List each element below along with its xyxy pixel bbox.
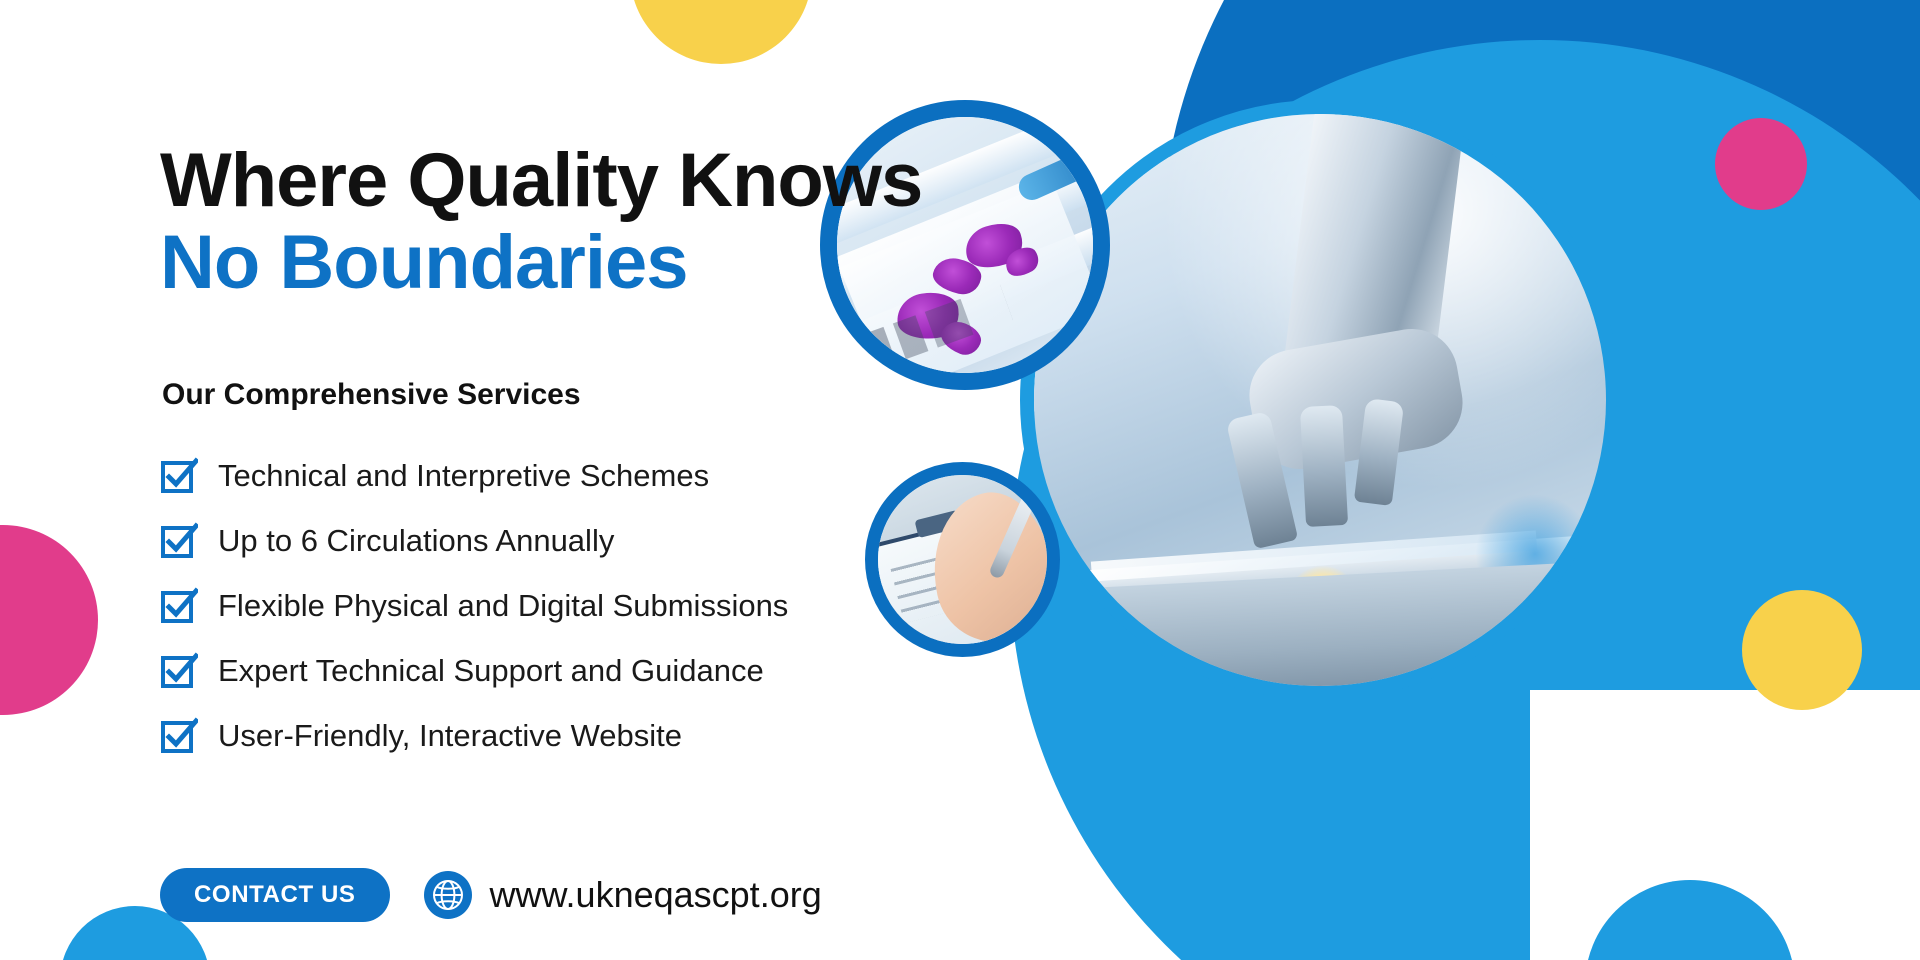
list-item: Flexible Physical and Digital Submission… [160,573,788,638]
list-item-label: Flexible Physical and Digital Submission… [218,588,788,624]
list-item: User-Friendly, Interactive Website [160,703,788,768]
list-item: Up to 6 Circulations Annually [160,508,788,573]
list-item-label: Up to 6 Circulations Annually [218,523,614,559]
checkbox-checked-icon [160,652,198,690]
microscope-objective-2 [1300,405,1348,527]
content-column: Where Quality Knows No Boundaries Our Co… [0,0,900,960]
promo-banner: Where Quality Knows No Boundaries Our Co… [0,0,1920,960]
microscope-photo-backdrop [1034,114,1606,686]
website-url[interactable]: www.ukneqascpt.org [490,874,822,916]
page-title: Where Quality Knows No Boundaries [160,140,922,304]
globe-icon [424,871,472,919]
list-item-label: Expert Technical Support and Guidance [218,653,764,689]
checkbox-checked-icon [160,587,198,625]
checkbox-checked-icon [160,717,198,755]
headline-line-2: No Boundaries [160,222,922,304]
checkbox-checked-icon [160,522,198,560]
list-item-label: User-Friendly, Interactive Website [218,718,682,754]
contact-us-button[interactable]: CONTACT US [160,868,390,922]
decor-circle-yellow-right [1742,590,1862,710]
list-item: Expert Technical Support and Guidance [160,638,788,703]
list-item: Technical and Interpretive Schemes [160,443,788,508]
decor-circle-pink-right [1715,118,1807,210]
microscope-photo [1020,100,1620,700]
list-item-label: Technical and Interpretive Schemes [218,458,709,494]
contact-row: CONTACT US www.ukneqascpt.org [160,868,822,922]
services-list: Technical and Interpretive Schemes Up to… [160,443,788,768]
section-subheading: Our Comprehensive Services [162,378,581,412]
checkbox-checked-icon [160,457,198,495]
headline-line-1: Where Quality Knows [160,138,922,223]
hand-writing-backdrop [878,475,1047,644]
